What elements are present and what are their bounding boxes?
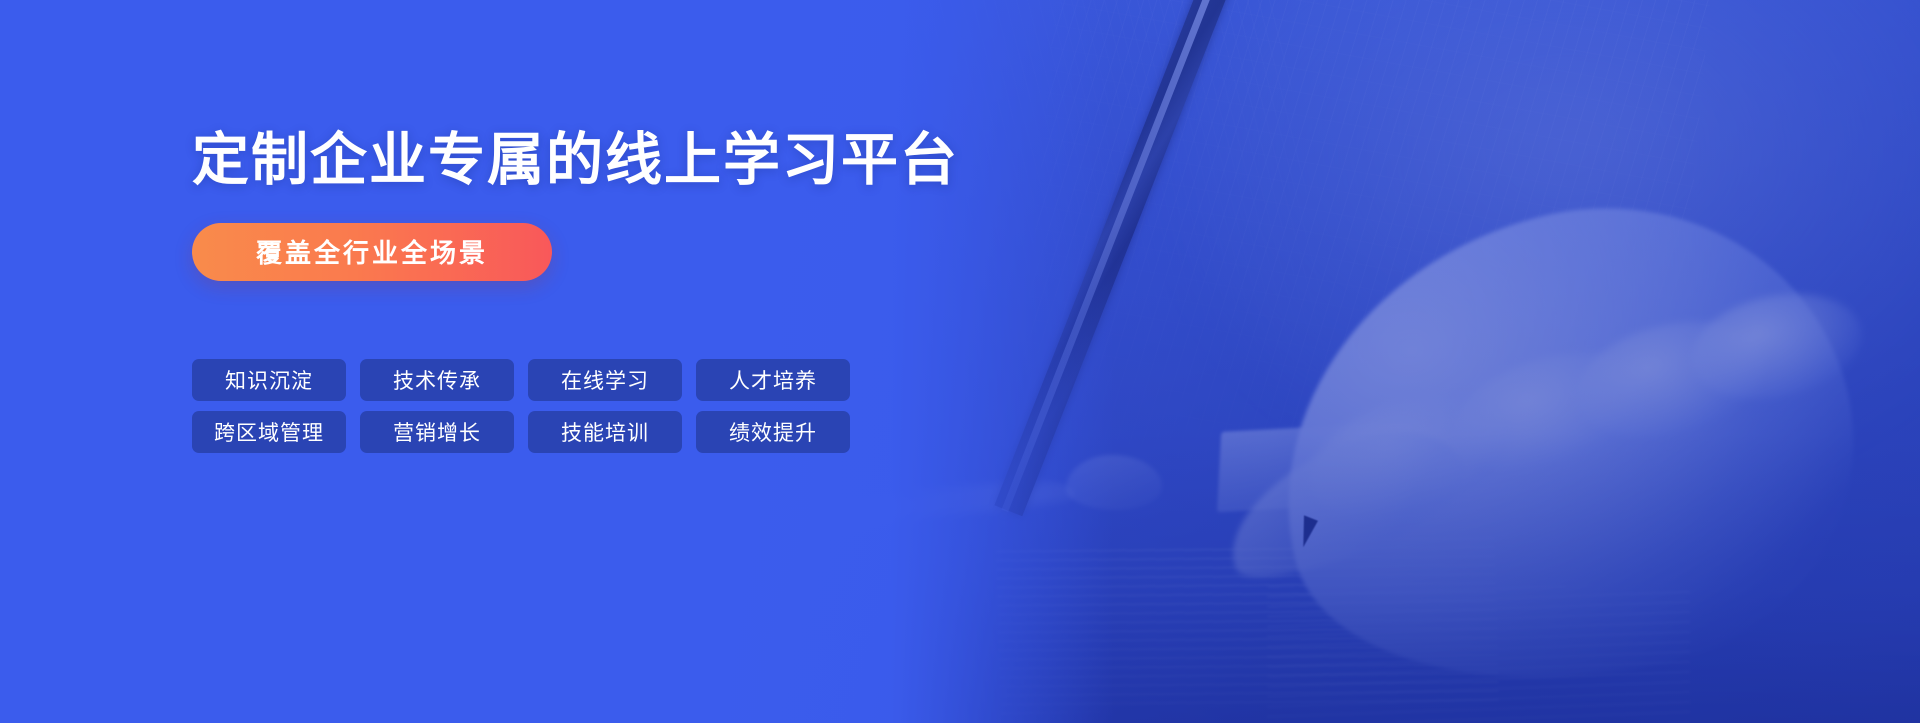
tag-chip[interactable]: 知识沉淀 [192,359,346,401]
coverage-pill-button[interactable]: 覆盖全行业全场景 [192,223,552,281]
tag-row: 知识沉淀 技术传承 在线学习 人才培养 [192,359,959,401]
hero-banner: 定制企业专属的线上学习平台 覆盖全行业全场景 知识沉淀 技术传承 在线学习 人才… [0,0,1920,723]
tag-chip[interactable]: 技术传承 [360,359,514,401]
banner-content: 定制企业专属的线上学习平台 覆盖全行业全场景 知识沉淀 技术传承 在线学习 人才… [192,0,959,723]
tag-chip[interactable]: 营销增长 [360,411,514,453]
tag-chip[interactable]: 人才培养 [696,359,850,401]
tag-chip[interactable]: 在线学习 [528,359,682,401]
tag-chip[interactable]: 绩效提升 [696,411,850,453]
tag-row: 跨区域管理 营销增长 技能培训 绩效提升 [192,411,959,453]
page-title: 定制企业专属的线上学习平台 [192,130,959,192]
tag-list: 知识沉淀 技术传承 在线学习 人才培养 跨区域管理 营销增长 技能培训 绩效提升 [192,359,959,453]
tag-chip[interactable]: 跨区域管理 [192,411,346,453]
tag-chip[interactable]: 技能培训 [528,411,682,453]
